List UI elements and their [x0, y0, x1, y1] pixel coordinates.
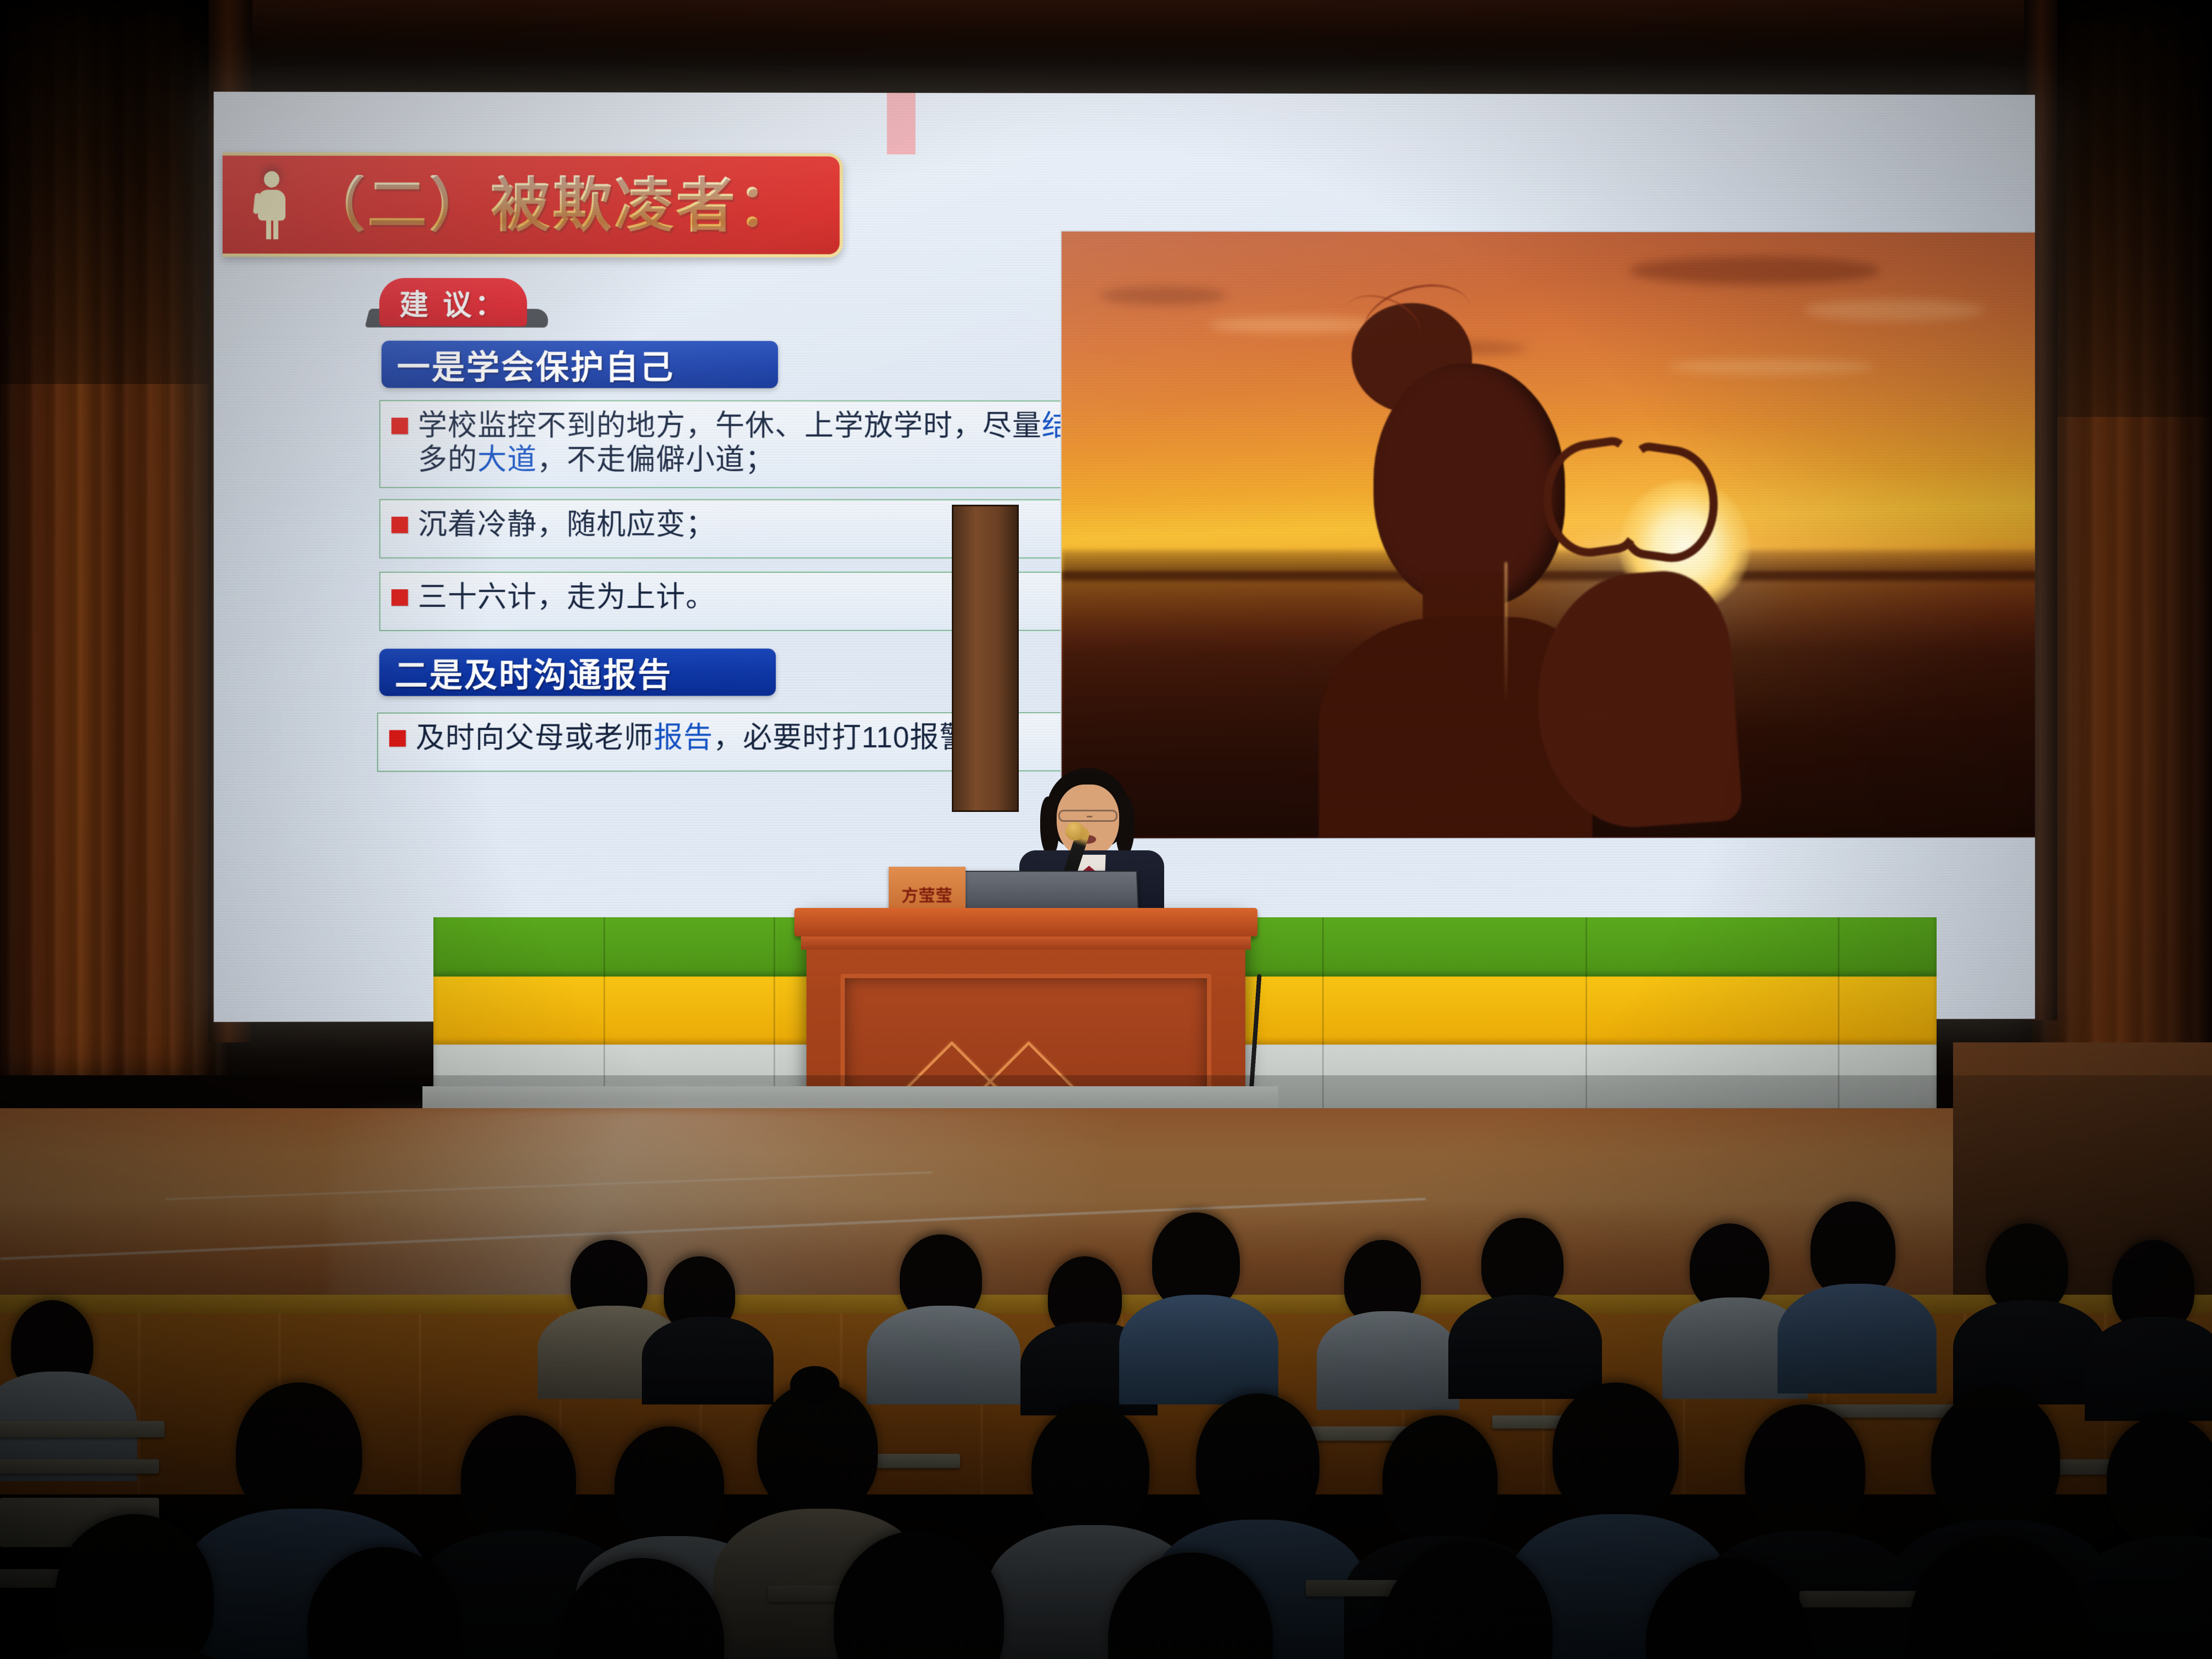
bullet-text-2: 沉着冷静，随机应变； [418, 508, 715, 542]
bullet-square-icon [389, 730, 405, 747]
slide-title-banner: （二）被欺凌者： [223, 153, 843, 258]
occluding-post [952, 505, 1019, 812]
decorative-strip [887, 93, 916, 154]
bullet-text-4: 及时向父母或老师报告，必要时打110报警 [416, 721, 969, 755]
podium-nameplate: 方莹莹 [889, 867, 966, 910]
podium-nameplate-text: 方莹莹 [902, 882, 953, 906]
hand-right-heart-icon [1617, 441, 1725, 568]
curtain-left-shadow [0, 0, 230, 384]
standing-person-icon [253, 171, 290, 238]
slide-photo-sunset [1060, 230, 2035, 839]
bullet-text-3: 三十六计，走为上计。 [418, 580, 715, 614]
section-header-1: 一是学会保护自己 [381, 341, 778, 388]
girl-silhouette [1296, 286, 1843, 838]
auditorium-scene: （二）被欺凌者： 建 议： 一是学会保护自己 学校监控不到的地方，午休、上学放学… [0, 0, 2212, 1659]
advice-tab: 建 议： [379, 278, 544, 329]
bullet-square-icon [391, 517, 408, 533]
section-header-2: 二是及时沟通报告 [379, 648, 776, 696]
audience-area [0, 1075, 2212, 1659]
section-header-2-label: 二是及时沟通报告 [394, 648, 672, 696]
glasses-icon [1058, 810, 1118, 822]
slide-title-text: （二）被欺凌者： [306, 175, 799, 235]
ceiling-wall [0, 0, 2212, 66]
curtain-right-shadow [2031, 0, 2212, 417]
bullet-square-icon [391, 589, 408, 606]
advice-tab-pill: 建 议： [379, 278, 527, 326]
section-header-1-label: 一是学会保护自己 [397, 340, 675, 388]
bullet-square-icon [391, 417, 408, 434]
advice-tab-label: 建 议： [399, 281, 506, 323]
